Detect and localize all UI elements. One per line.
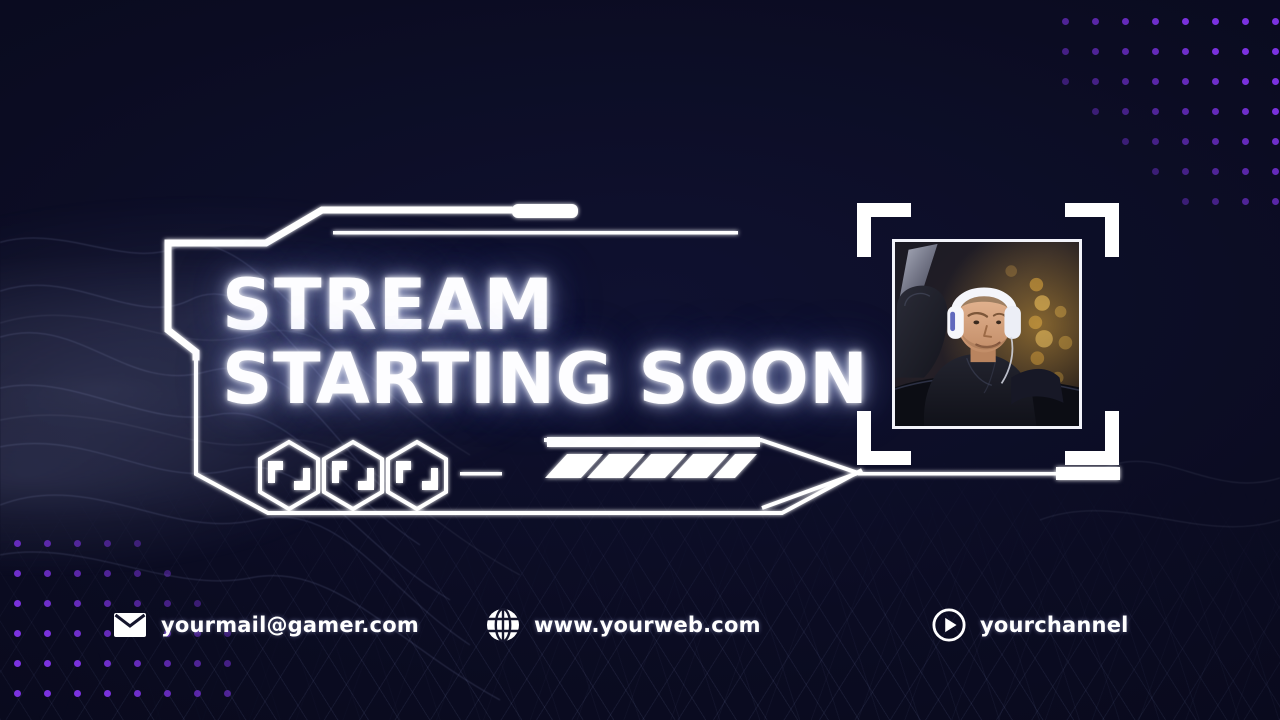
hud-hexagon	[388, 442, 446, 509]
footer-channel-label: yourchannel	[980, 613, 1129, 637]
footer-website[interactable]: www.yourweb.com	[486, 608, 761, 642]
footer-channel[interactable]: yourchannel	[932, 608, 1129, 642]
email-icon	[113, 608, 147, 642]
hud-top-pill	[512, 204, 578, 218]
play-circle-icon	[932, 608, 966, 642]
footer-email[interactable]: yourmail@gamer.com	[113, 608, 419, 642]
stream-overlay-canvas: STREAM STARTING SOON	[0, 0, 1280, 720]
hud-stripe-group	[545, 454, 757, 478]
footer-website-label: www.yourweb.com	[534, 613, 761, 637]
hud-hexagon	[324, 442, 382, 509]
stream-title: STREAM STARTING SOON	[222, 268, 882, 416]
streamer-photo-block	[857, 203, 1119, 465]
hud-chevron-top-bar	[547, 437, 760, 447]
hud-right-end-cap	[1056, 467, 1120, 480]
hud-top-thin-line	[333, 231, 738, 235]
footer-email-label: yourmail@gamer.com	[161, 613, 419, 637]
footer-contact-bar: yourmail@gamer.com www.yourweb.com	[0, 596, 1280, 662]
title-line-2: STARTING SOON	[222, 342, 882, 416]
hud-dash-connector	[460, 472, 502, 476]
streamer-photo	[892, 239, 1082, 429]
title-line-1: STREAM	[222, 268, 882, 342]
hud-hexagon-group	[260, 442, 446, 509]
hud-hexagon	[260, 442, 318, 509]
globe-icon	[486, 608, 520, 642]
hud-right-connector-line	[858, 472, 1058, 476]
